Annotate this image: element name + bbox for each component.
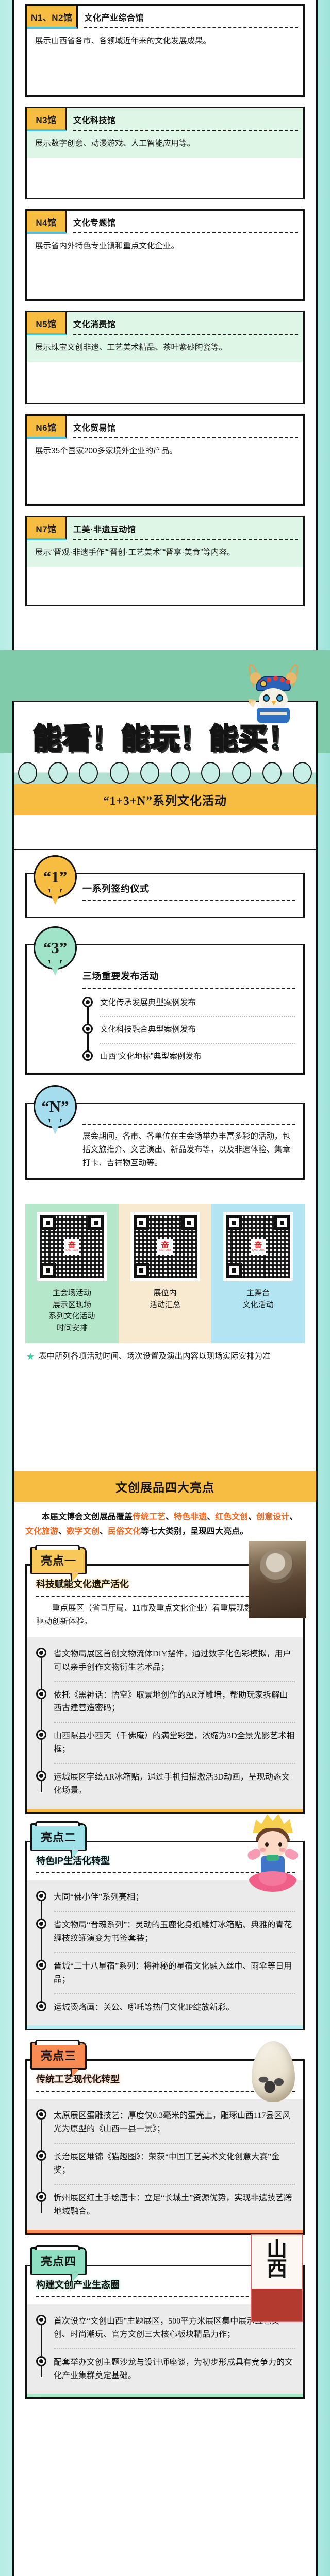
bullet-icon [36,2150,46,2161]
divider-dotted [54,1911,295,1912]
list-item-label: 依托《黑神话：悟空》取景地创作的AR浮雕墙，帮助玩家拆解山西古建营造密码； [54,1691,288,1713]
activities-section: “1” 一系列签约仪式 “3” 三场重要发布活动 [12,850,318,1456]
divider-dotted [100,1016,295,1017]
divider-dashed [82,900,295,901]
card-shadow [28,504,304,508]
star-icon: ★ [26,1350,35,1363]
list-item: 依托《黑神话：悟空》取景地创作的AR浮雕墙，帮助玩家拆解山西古建营造密码； [54,1687,295,1718]
bullet-icon [36,2356,46,2366]
pin-marker-n: “N” [34,1085,77,1132]
fan-icon [249,692,264,708]
qr-code-row: 奋 SXCF 2025 主会场活动 展示区现场 系列文化活动 时间安排 奋 SX… [25,1204,305,1343]
bullet-icon [36,1960,46,1970]
highlight-tab-label: 亮点二 [30,1823,87,1851]
pavilion-desc: 展示珠宝文创非遗、工艺美术精品、茶叶紫砂陶瓷等。 [27,335,303,362]
list-item-label: 长治展区堆锦《猫趣图》：荣获“中国工艺美术文化创意大赛”金奖； [54,2153,279,2175]
card-shadow [28,95,304,99]
qr-col[interactable]: 奋 SXCF 2025 主会场活动 展示区现场 系列文化活动 时间安排 [25,1204,119,1343]
qr-finder-icon [226,1215,242,1230]
bullet-icon [36,2109,46,2120]
bullet-icon [36,1648,46,1658]
list-item: 文化科技融合典型案例发布 [100,1022,295,1038]
divider-dotted [54,2143,295,2144]
list-item-label: 省文物局“晋魂系列”：灵动的玉鹿化身纸雕灯冰箱贴、典雅的青花缠枝纹罐演变为书签套… [54,1921,292,1943]
list-item-label: 山西“文化地标”典型案例发布 [100,1052,201,1061]
mascot-doll-icon [240,1810,305,1897]
divider-dotted [54,1722,295,1723]
card-accent-bar [27,2025,303,2029]
bullet-icon [36,2315,46,2325]
pavilion-list: N1、N2馆 文化产业综合馆 展示山西省各市、各领域近年来的文化发展成果。 N3… [14,0,316,606]
highlight-tab: 亮点三 [30,2042,87,2070]
pavilion-desc: 展示山西省各市、各领域近年来的文化发展成果。 [27,29,303,55]
highlight-tab-label: 亮点四 [30,2247,87,2275]
list-item-label: 省文物局展区首创文物流体DIY摆件，通过数字化色彩模拟，用户可以亲手创作文物衍生… [54,1650,291,1672]
list-item: 忻州展区红土手绘唐卡：立足“长城土”资源优势，实现非遗技艺跨地域融合。 [54,2190,295,2221]
bullet-icon [36,1730,46,1740]
bullet-icon [36,1771,46,1781]
activity-timeline: 文化传承发展典型案例发布 文化科技融合典型案例发布 山西“文化地标”典型案例发布 [82,995,295,1065]
activity-block-1[interactable]: “1” 一系列签约仪式 [25,873,305,918]
footnote: ★ 表中所列各项活动时间、场次设置及演出内容以现场实际安排为准 [26,1350,304,1363]
pavilion-tag: N3馆 [27,108,67,131]
pavilion-desc: 展示35个国家200多家境外企业的产品。 [27,439,303,465]
qr-caption: 主舞台 文化活动 [243,1287,274,1311]
list-item: 运城烫烙画：关公、哪吒等热门文化IP绽放新彩。 [54,1999,295,2016]
highlight-block-4[interactable]: 亮点四 山西 构建文创产业生态圈 首次设立“文创山西”主题展区，500平方米展区… [25,2265,305,2399]
qr-logo-icon: 奋 SXCF 2025 [64,1239,79,1255]
highlight-items: 省文物局展区首创文物流体DIY摆件，通过数字化色彩模拟，用户可以亲手创作文物衍生… [27,1637,303,1809]
qr-logo-icon: 奋 SXCF 2025 [157,1239,173,1255]
pavilion-tag: N5馆 [27,312,67,335]
qr-finder-icon [181,1215,197,1230]
pin-marker-1: “1” [34,855,77,903]
eye-left-icon [265,1842,269,1847]
ink-painting [256,2064,291,2097]
list-item: 山西隰县小西天（千佛庵）的满堂彩塑，浓缩为3D全景光影艺术相框； [54,1727,295,1758]
cheek-left [260,1848,266,1852]
list-item-label: 晋城“二十八星宿”系列：将神秘的星宿文化融入丝巾、雨伞等日用品； [54,1962,292,1984]
divider-dotted [54,1681,295,1682]
pavilion-card[interactable]: N4馆 文化专题馆 展示省内外特色专业镇和重点文化企业。 [25,209,305,301]
bullet-icon [82,1050,93,1061]
divider-dashed [73,232,298,233]
pavilion-card[interactable]: N7馆 工美·非遗互动馆 展示“晋观·非遗手作”“晋创·工艺美术”“晋享·美食”… [25,516,305,606]
pavilion-tag: N1、N2馆 [27,6,78,29]
pavilion-card[interactable]: N6馆 文化贸易馆 展示35个国家200多家境外企业的产品。 [25,414,305,506]
pavilion-title: 文化科技馆 [73,113,298,126]
pavilion-desc: 展示数字创意、动漫游戏、人工智能应用等。 [27,131,303,158]
qr-finder-icon [134,1263,149,1278]
highlights-banner: 文创展品四大亮点 [14,1471,316,1502]
divider-dotted [54,2184,295,2185]
pin-label: “N” [41,1097,69,1116]
pavilion-card[interactable]: N3馆 文化科技馆 展示数字创意、动漫游戏、人工智能应用等。 [25,107,305,199]
highlight-block-3[interactable]: 亮点三 传统工艺现代化转型 太原展区蛋雕技艺：厚度仅0.3毫米的蛋壳上，雕琢山西… [25,2059,305,2234]
qr-finder-icon [88,1215,104,1230]
highlight-card: 特色IP生活化转型 大同“佛小伴”系列亮相； 省文物局“晋魂系列”：灵动的玉鹿化… [25,1841,305,2030]
list-item-label: 太原展区蛋雕技艺：厚度仅0.3毫米的蛋壳上，雕琢山西117县区风光为原型的《山西… [54,2111,290,2133]
pavilion-title: 文化贸易馆 [73,421,298,433]
divider-dashed [73,539,298,540]
pin-label: “1” [43,868,68,886]
highlight-items: 大同“佛小伴”系列亮相； 省文物局“晋魂系列”：灵动的玉鹿化身纸雕灯冰箱贴、典雅… [27,1880,303,2025]
pavilion-desc: 展示“晋观·非遗手作”“晋创·工艺美术”“晋享·美食”等内容。 [27,540,303,567]
pavilion-title: 工美·非遗互动馆 [73,522,298,535]
list-item: 运城展区字绘AR冰箱贴，通过手机扫描激活3D动画，呈现动态文化场景。 [54,1769,295,1800]
bullet-icon [36,1689,46,1699]
qr-finder-icon [274,1215,290,1230]
highlight-tab-label: 亮点一 [30,1547,87,1574]
divider-dotted [54,1952,295,1953]
bullet-icon [36,2192,46,2202]
qr-col[interactable]: 奋 SXCF 2025 主舞台 文化活动 [211,1204,305,1343]
footnote-text: 表中所列各项活动时间、场次设置及演出内容以现场实际安排为准 [39,1350,271,1363]
divider-dashed [82,988,295,989]
bullet-icon [36,2001,46,2011]
bow-icon [266,1855,279,1861]
qr-code-image[interactable]: 奋 SXCF 2025 [37,1212,107,1281]
list-item-label: 文化科技融合典型案例发布 [100,1025,196,1034]
qr-col[interactable]: 奋 SXCF 2025 展位内 活动汇总 [119,1204,212,1343]
qr-caption: 主会场活动 展示区现场 系列文化活动 时间安排 [48,1287,95,1334]
pavilion-section: N1、N2馆 文化产业综合馆 展示山西省各市、各领域近年来的文化发展成果。 N3… [12,0,318,650]
list-item-label: 运城烫烙画：关公、哪吒等热门文化IP绽放新彩。 [54,2003,234,2012]
highlight-tab: 亮点四 [30,2247,87,2275]
card-shadow [28,198,304,201]
pavilion-title: 文化专题馆 [73,216,298,228]
highlight-card: 科技赋能文化遗产活化 重点展区（省直厅局、11市及重点文化企业）着重展现数字技术… [25,1564,305,1814]
pavilion-title: 文化产业综合馆 [84,11,298,23]
bullet-icon [82,997,93,1007]
divider-dashed [73,334,298,335]
card-accent-bar [27,2394,303,2397]
card-shadow [28,299,304,303]
scallop-divider [14,762,316,784]
divider-dotted [54,2348,295,2349]
hero-subtitle: “1+3+N”系列文化活动 [14,784,316,815]
list-item: 晋城“二十八星宿”系列：将神秘的星宿文化融入丝巾、雨伞等日用品； [54,1958,295,1989]
divider-dotted [54,1763,295,1764]
bullet-icon [36,1891,46,1901]
bullet-icon [82,1024,93,1034]
list-item: 文化传承发展典型案例发布 [100,995,295,1011]
wukong-photo [249,1541,306,1618]
pavilion-tag: N7馆 [27,517,67,540]
list-item: 省文物局展区首创文物流体DIY摆件，通过数字化色彩模拟，用户可以亲手创作文物衍生… [54,1646,295,1676]
shanxi-scroll-photo: 山西 [251,2234,303,2322]
qr-code-image[interactable]: 奋 SXCF 2025 [130,1212,200,1281]
face [258,1831,288,1858]
divider-dashed [73,130,298,131]
list-item-label: 山西隰县小西天（千佛庵）的满堂彩塑，浓缩为3D全景光影艺术相框； [54,1732,295,1754]
hat-gem-icon [260,680,267,687]
card-shadow [28,605,304,608]
list-item: 长治展区堆锦《猫趣图》：荣获“中国工艺美术文化创意大赛”金奖； [54,2148,295,2179]
list-item-label: 忻州展区红土手绘唐卡：立足“长城土”资源优势，实现非遗技艺跨地域融合。 [54,2194,292,2216]
divider-dashed [73,437,298,438]
activity-block-3[interactable]: “3” 三场重要发布活动 文化传承发展典型案例发布 文化科技融合典型案例发布 [25,944,305,1075]
pavilion-desc: 展示省内外特色专业镇和重点文化企业。 [27,234,303,260]
highlight-card: 山西 构建文创产业生态圈 首次设立“文创山西”主题展区，500平方米展区集中展示… [25,2265,305,2399]
qr-caption: 展位内 活动汇总 [150,1287,180,1311]
divider-dotted [100,1043,295,1044]
doll-photo [240,1810,305,1897]
highlight-block-2[interactable]: 亮点二 [25,1841,305,2030]
pavilion-tag: N6馆 [27,416,67,439]
eye-right-icon [276,694,283,702]
card-accent-bar [27,2230,303,2233]
eye-right-icon [278,1842,282,1847]
qr-finder-icon [40,1263,56,1278]
mascot-bird-icon [245,664,301,724]
egg-carving-photo [246,2034,302,2111]
activity-block-n[interactable]: “N” 展会期间，各市、各单位在主会场举办丰富多彩的活动，包括文旅推介、文艺演出… [25,1103,305,1180]
highlights-intro: 本届文博会文创展品覆盖传统工艺、特色非遗、红色文创、创意设计、文化旅游、数字文创… [14,1502,316,1541]
pavilion-title: 文化消费馆 [73,317,298,330]
bullet-icon [36,1919,46,1929]
list-item-label: 文化传承发展典型案例发布 [100,998,196,1007]
list-item: 太原展区蛋雕技艺：厚度仅0.3毫米的蛋壳上，雕琢山西117县区风光为原型的《山西… [54,2107,295,2138]
divider-dotted [54,1993,295,1994]
calligraphy-shanxi: 山西 [252,2240,302,2279]
pavilion-card[interactable]: N1、N2馆 文化产业综合馆 展示山西省各市、各领域近年来的文化发展成果。 [25,4,305,97]
pin-marker-3: “3” [34,926,77,974]
list-item: 山西“文化地标”典型案例发布 [100,1048,295,1065]
robe [257,708,290,723]
highlight-card: 传统工艺现代化转型 太原展区蛋雕技艺：厚度仅0.3毫米的蛋壳上，雕琢山西117县… [25,2059,305,2234]
activity-paragraph: 展会期间，各市、各单位在主会场举办丰富多彩的活动，包括文旅推介、文艺演出、新品发… [82,1125,295,1170]
highlight-items: 太原展区蛋雕技艺：厚度仅0.3毫米的蛋壳上，雕琢山西117县区风光为原型的《山西… [27,2099,303,2229]
list-item: 配套举办文创主题沙龙与设计师座谈，为初步形成具有竞争力的文化产业集群奠定基础。 [54,2354,295,2385]
pavilion-tag: N4馆 [27,211,67,234]
qr-code-image[interactable]: 奋 SXCF 2025 [223,1212,293,1281]
scallop-dots [14,762,316,784]
highlights-section: 文创展品四大亮点 本届文博会文创展品覆盖传统工艺、特色非遗、红色文创、创意设计、… [12,1456,318,2576]
qr-finder-icon [40,1215,56,1230]
qr-logo-icon: 奋 SXCF 2025 [251,1239,266,1255]
list-item-label: 首次设立“文创山西”主题展区，500平方米展区集中展示红色文创、时尚潮玩、官方文… [54,2317,279,2339]
qr-finder-icon [134,1215,149,1230]
lotus-icon [249,1871,297,1892]
card-shadow [28,403,304,406]
list-item-label: 大同“佛小伴”系列亮相； [54,1893,143,1902]
highlight-tab-label: 亮点三 [30,2042,87,2070]
activity-heading: 三场重要发布活动 [82,969,295,982]
highlight-block-1[interactable]: 亮点一 科技赋能文化遗产活化 重点展区（省直厅局、11市及重点文化企业）着重展现… [25,1564,305,1814]
list-item-label: 运城展区字绘AR冰箱贴，通过手机扫描激活3D动画，呈现动态文化场景。 [54,1773,290,1795]
list-item: 省文物局“晋魂系列”：灵动的玉鹿化身纸雕灯冰箱贴、典雅的青花缠枝纹罐演变为书签套… [54,1917,295,1947]
activity-heading: 一系列签约仪式 [82,882,295,895]
highlight-tab: 亮点二 [30,1823,87,1851]
list-item-label: 配套举办文创主题沙龙与设计师座谈，为初步形成具有竞争力的文化产业集群奠定基础。 [54,2358,293,2380]
divider-dashed [84,27,298,28]
qr-finder-icon [226,1263,242,1278]
highlight-tab: 亮点一 [30,1547,87,1574]
pavilion-card[interactable]: N5馆 文化消费馆 展示珠宝文创非遗、工艺美术精品、茶叶紫砂陶瓷等。 [25,311,305,404]
pin-label: “3” [43,939,68,957]
